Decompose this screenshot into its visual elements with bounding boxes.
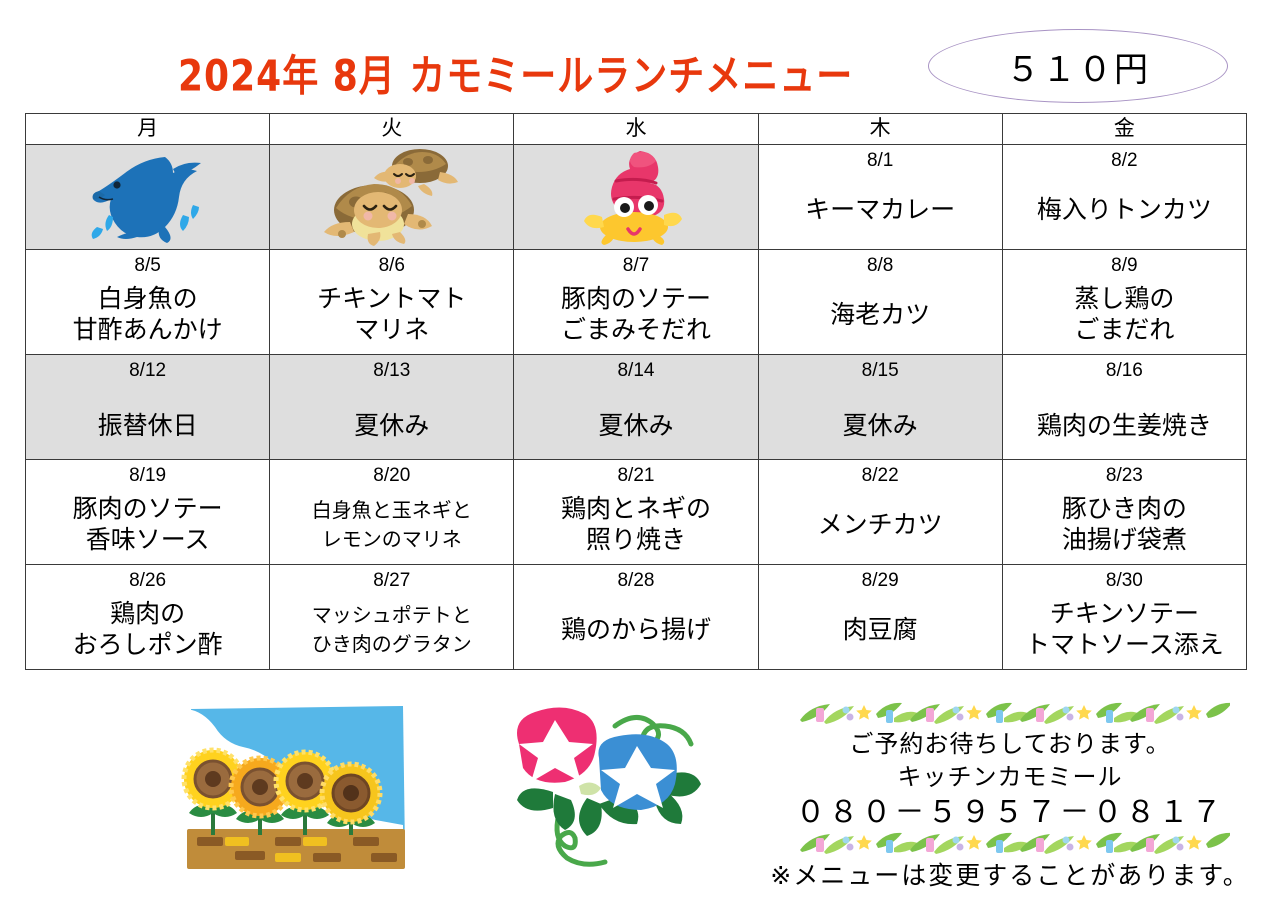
cell-date: 8/8 (759, 250, 1002, 279)
reservation-message: ご予約お待ちしております。 (760, 728, 1260, 761)
tanabata-bamboo-star-border-bottom (790, 832, 1230, 858)
calendar-cell-menu: 8/19豚肉のソテー香味ソース (26, 460, 270, 565)
cell-date: 8/27 (270, 565, 513, 594)
dolphin-icon (73, 149, 223, 245)
cell-menu-name: 豚肉のソテーごまみそだれ (514, 279, 757, 345)
calendar-week-row: 8/12振替休日8/13夏休み8/14夏休み8/15夏休み8/16鶏肉の生姜焼き (26, 355, 1247, 460)
page-header: 2024年 8月 カモミールランチメニュー ５１０円 (0, 0, 1280, 108)
cell-date: 8/9 (1003, 250, 1246, 279)
weekday-header-tuesday: 火 (270, 114, 514, 145)
calendar-cell-illustration (270, 145, 514, 250)
cell-menu-name: チキントマトマリネ (270, 279, 513, 345)
cell-menu-name: 梅入りトンカツ (1003, 174, 1246, 225)
calendar-cell-menu: 8/15夏休み (758, 355, 1002, 460)
tanabata-bamboo-star-border-top (790, 702, 1230, 728)
weekday-header-wednesday: 水 (514, 114, 758, 145)
cell-menu-name: 鶏のから揚げ (514, 594, 757, 645)
cell-menu-name: 鶏肉とネギの照り焼き (514, 489, 757, 555)
calendar-week-row: 8/19豚肉のソテー香味ソース8/20白身魚と玉ネギとレモンのマリネ8/21鶏肉… (26, 460, 1247, 565)
calendar-cell-menu: 8/6チキントマトマリネ (270, 250, 514, 355)
cell-menu-name: キーマカレー (759, 174, 1002, 225)
calendar-cell-menu: 8/1キーマカレー (758, 145, 1002, 250)
sunflower-field-illustration (163, 701, 408, 873)
calendar-cell-menu: 8/8海老カツ (758, 250, 1002, 355)
weekday-header-friday: 金 (1002, 114, 1246, 145)
hermit-crab-illustration (514, 145, 757, 249)
calendar-cell-menu: 8/29肉豆腐 (758, 565, 1002, 670)
cell-menu-name: 鶏肉のおろしポン酢 (26, 594, 269, 660)
calendar-header-row: 月 火 水 木 金 (26, 114, 1247, 145)
cell-date: 8/21 (514, 460, 757, 489)
cell-menu-name: マッシュポテトとひき肉のグラタン (270, 594, 513, 659)
cell-date: 8/7 (514, 250, 757, 279)
cell-date: 8/29 (759, 565, 1002, 594)
cell-menu-name: 夏休み (270, 384, 513, 441)
calendar-cell-menu: 8/28鶏のから揚げ (514, 565, 758, 670)
contact-block: ご予約お待ちしております。 キッチンカモミール ０８０－５９５７－０８１７ (760, 702, 1260, 858)
cell-date: 8/22 (759, 460, 1002, 489)
cell-date: 8/14 (514, 355, 757, 384)
cell-date: 8/2 (1003, 145, 1246, 174)
cell-menu-name: 白身魚の甘酢あんかけ (26, 279, 269, 345)
phone-number[interactable]: ０８０－５９５７－０８１７ (760, 794, 1260, 832)
cell-menu-name: メンチカツ (759, 489, 1002, 540)
cell-menu-name: 鶏肉の生姜焼き (1003, 384, 1246, 441)
cell-date: 8/20 (270, 460, 513, 489)
cell-menu-name: 海老カツ (759, 279, 1002, 330)
calendar-week-row: 8/1キーマカレー8/2梅入りトンカツ (26, 145, 1247, 250)
calendar-cell-illustration (26, 145, 270, 250)
cell-date: 8/1 (759, 145, 1002, 174)
weekday-header-thursday: 木 (758, 114, 1002, 145)
calendar-cell-menu: 8/27マッシュポテトとひき肉のグラタン (270, 565, 514, 670)
calendar-cell-menu: 8/20白身魚と玉ネギとレモンのマリネ (270, 460, 514, 565)
calendar-cell-menu: 8/26鶏肉のおろしポン酢 (26, 565, 270, 670)
cell-date: 8/30 (1003, 565, 1246, 594)
cell-menu-name: チキンソテートマトソース添え (1003, 594, 1246, 660)
sea-turtles-illustration (270, 145, 513, 249)
cell-menu-name: 夏休み (759, 384, 1002, 441)
cell-menu-name: 夏休み (514, 384, 757, 441)
cell-menu-name: 肉豆腐 (759, 594, 1002, 645)
menu-change-note: ※メニューは変更することがあります。 (752, 856, 1268, 892)
cell-date: 8/19 (26, 460, 269, 489)
calendar-cell-menu: 8/9蒸し鶏のごまだれ (1002, 250, 1246, 355)
calendar-week-row: 8/5白身魚の甘酢あんかけ8/6チキントマトマリネ8/7豚肉のソテーごまみそだれ… (26, 250, 1247, 355)
calendar-cell-menu: 8/21鶏肉とネギの照り焼き (514, 460, 758, 565)
calendar-cell-menu: 8/16鶏肉の生姜焼き (1002, 355, 1246, 460)
sea-turtles-icon (312, 148, 472, 246)
cell-date: 8/6 (270, 250, 513, 279)
calendar-cell-menu: 8/14夏休み (514, 355, 758, 460)
calendar-cell-illustration (514, 145, 758, 250)
cell-date: 8/28 (514, 565, 757, 594)
calendar-cell-menu: 8/5白身魚の甘酢あんかけ (26, 250, 270, 355)
calendar-cell-menu: 8/2梅入りトンカツ (1002, 145, 1246, 250)
cell-date: 8/5 (26, 250, 269, 279)
calendar-week-row: 8/26鶏肉のおろしポン酢8/27マッシュポテトとひき肉のグラタン8/28鶏のか… (26, 565, 1247, 670)
calendar-cell-menu: 8/22メンチカツ (758, 460, 1002, 565)
page-title: 2024年 8月 カモミールランチメニュー (178, 42, 853, 103)
lunch-menu-calendar: 月 火 水 木 金 (25, 113, 1247, 670)
cell-menu-name: 振替休日 (26, 384, 269, 441)
calendar-cell-menu: 8/30チキンソテートマトソース添え (1002, 565, 1246, 670)
hermit-crab-icon (576, 147, 696, 247)
cell-menu-name: 白身魚と玉ネギとレモンのマリネ (270, 489, 513, 554)
calendar-cell-menu: 8/7豚肉のソテーごまみそだれ (514, 250, 758, 355)
cell-date: 8/15 (759, 355, 1002, 384)
price-badge: ５１０円 (928, 29, 1228, 103)
calendar-cell-menu: 8/13夏休み (270, 355, 514, 460)
morning-glory-illustration (495, 696, 710, 881)
cell-menu-name: 豚肉のソテー香味ソース (26, 489, 269, 555)
shop-name: キッチンカモミール (760, 761, 1260, 794)
cell-date: 8/13 (270, 355, 513, 384)
calendar-cell-menu: 8/23豚ひき肉の油揚げ袋煮 (1002, 460, 1246, 565)
weekday-header-monday: 月 (26, 114, 270, 145)
cell-date: 8/12 (26, 355, 269, 384)
calendar-cell-menu: 8/12振替休日 (26, 355, 270, 460)
cell-date: 8/16 (1003, 355, 1246, 384)
cell-date: 8/23 (1003, 460, 1246, 489)
price-label: ５１０円 (1006, 42, 1150, 91)
cell-menu-name: 豚ひき肉の油揚げ袋煮 (1003, 489, 1246, 555)
cell-date: 8/26 (26, 565, 269, 594)
calendar-body: 8/1キーマカレー8/2梅入りトンカツ8/5白身魚の甘酢あんかけ8/6チキントマ… (26, 145, 1247, 670)
cell-menu-name: 蒸し鶏のごまだれ (1003, 279, 1246, 345)
page-footer: ご予約お待ちしております。 キッチンカモミール ０８０－５９５７－０８１７ (0, 688, 1280, 905)
dolphin-illustration (26, 145, 269, 249)
